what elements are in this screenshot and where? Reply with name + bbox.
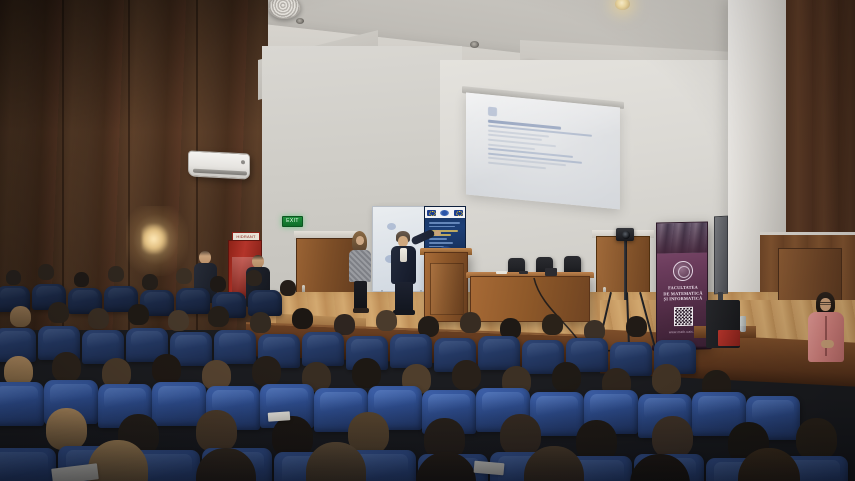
audience-person [10,306,32,330]
auditorium-seat [478,336,520,370]
downlight-icon [470,41,479,48]
audience-person [108,266,125,284]
auditorium-seat [390,334,432,368]
video-camera-icon [616,228,634,241]
eu-flag-icon [427,210,436,216]
audience-person [246,270,263,288]
audience-person [376,310,398,334]
audience-person-foreground [524,446,586,481]
audience-person [208,306,230,330]
audience-person-foreground [416,452,478,481]
audience-person [38,264,55,282]
auditorium-seat [302,332,344,366]
audience-person [460,312,482,336]
audience-person-foreground [630,454,692,481]
wall-wood-right-upper [786,0,855,250]
auditorium-seat [0,448,56,481]
downlight-icon [296,18,304,24]
handout-paper [474,461,505,476]
audience-person [542,314,564,338]
audience-person-foreground [196,448,258,481]
wall-sconce-icon [142,224,168,254]
audience-person [452,360,482,393]
erasmus-logo-icon [440,210,449,216]
fire-cabinet-text: HIDRANT [236,234,255,239]
audience-person [88,308,110,332]
exit-sign: EXIT [282,216,303,227]
audience-person [48,302,70,326]
audience-person [292,308,314,332]
exit-sign-label: EXIT [286,219,299,224]
auditorium-seat [214,330,256,364]
air-conditioner-icon [188,150,250,179]
projected-slide [466,92,620,209]
audience-person-foreground [306,442,368,481]
audience-person [652,364,682,397]
banner-photo [657,222,707,253]
handout-paper [268,411,291,422]
poster-logo-row [425,207,465,218]
projection-screen [466,92,620,209]
audience-person [280,280,297,298]
auditorium-photo: EXIT HIDRANT [0,0,855,481]
audience-seating [0,262,855,481]
audience-person [176,268,193,286]
auditorium-seat [0,382,44,426]
audience-person [128,304,150,328]
partner-logo-icon [454,210,463,216]
audience-person [168,310,190,334]
audience-person-foreground [738,448,802,481]
audience-person [626,316,648,340]
audience-person [552,362,582,395]
slide-logo-icon [488,107,497,117]
